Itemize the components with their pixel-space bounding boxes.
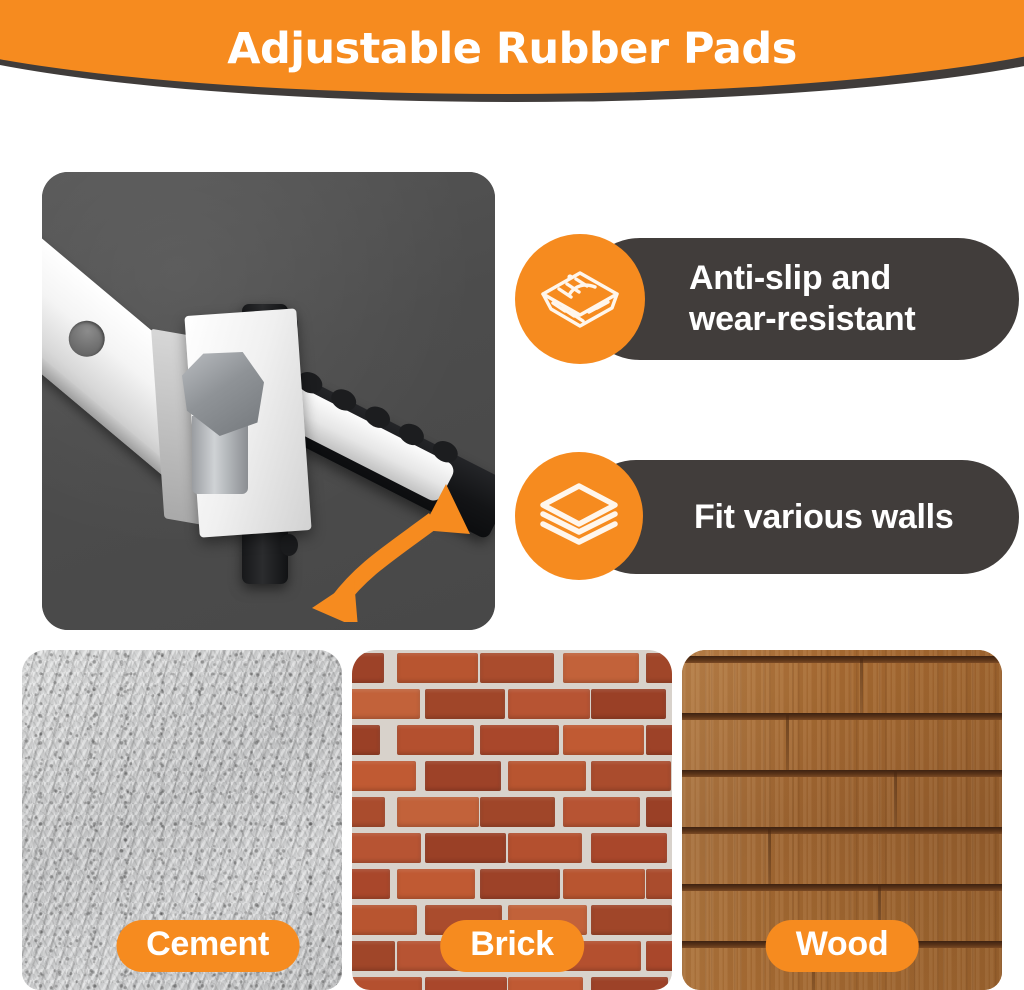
brick xyxy=(480,797,555,827)
brick xyxy=(646,797,672,827)
plank-gap xyxy=(682,656,1002,663)
brick xyxy=(425,761,501,791)
brick-row xyxy=(352,830,672,866)
material-swatch-brick: Brick xyxy=(352,650,672,990)
material-label-brick: Brick xyxy=(440,920,584,972)
brick xyxy=(352,941,395,971)
material-swatches: Cement Brick Wood xyxy=(22,650,1002,990)
brick-row xyxy=(352,650,672,686)
material-label-wood: Wood xyxy=(766,920,919,972)
plank-seam xyxy=(894,770,897,827)
feature-anti-slip: Anti-slip and wear-resistant xyxy=(515,234,1015,364)
brick-row xyxy=(352,974,672,990)
material-swatch-cement: Cement xyxy=(22,650,342,990)
brick xyxy=(425,833,506,863)
brick xyxy=(425,689,505,719)
adjust-arrow-icon xyxy=(310,462,480,622)
material-swatch-wood: Wood xyxy=(682,650,1002,990)
page-title: Adjustable Rubber Pads xyxy=(0,24,1024,74)
brick xyxy=(646,941,672,971)
bracket-hole xyxy=(42,255,48,309)
plank-seam xyxy=(860,656,863,713)
brick xyxy=(352,761,416,791)
brick-row xyxy=(352,722,672,758)
feature-fit-various-walls: Fit various walls xyxy=(515,452,1015,582)
brick xyxy=(352,977,422,990)
plank-gap xyxy=(682,827,1002,834)
brick xyxy=(563,653,639,683)
brick-row xyxy=(352,794,672,830)
plank-seam xyxy=(786,713,789,770)
brick xyxy=(352,653,384,683)
brick xyxy=(480,725,559,755)
brick-row xyxy=(352,686,672,722)
brick xyxy=(508,833,582,863)
plank-seam xyxy=(768,827,771,884)
feature-pill: Anti-slip and wear-resistant xyxy=(579,238,1019,360)
brick xyxy=(646,653,672,683)
header-banner: Adjustable Rubber Pads xyxy=(0,0,1024,120)
brick xyxy=(508,761,586,791)
brick xyxy=(480,653,554,683)
bracket-hole xyxy=(61,313,112,364)
brick xyxy=(591,761,671,791)
brick xyxy=(397,869,475,899)
brick xyxy=(397,653,478,683)
plank-gap xyxy=(682,884,1002,891)
product-infographic: Adjustable Rubber Pads xyxy=(0,0,1024,990)
brick xyxy=(352,797,385,827)
brick xyxy=(352,833,421,863)
brick xyxy=(591,689,666,719)
feature-label: Anti-slip and wear-resistant xyxy=(689,258,915,340)
pad-ridge xyxy=(280,534,298,556)
product-image-panel xyxy=(42,172,495,630)
brick-row xyxy=(352,866,672,902)
brick-row xyxy=(352,758,672,794)
brick xyxy=(397,725,474,755)
feature-pill: Fit various walls xyxy=(579,460,1019,574)
brick xyxy=(352,725,380,755)
brick xyxy=(591,977,668,990)
brick xyxy=(508,977,583,990)
brick xyxy=(591,905,672,935)
feature-label: Fit various walls xyxy=(694,497,953,538)
brick xyxy=(397,797,479,827)
plank-gap xyxy=(682,713,1002,720)
brick xyxy=(591,833,667,863)
textured-surface-icon xyxy=(515,234,645,364)
brick xyxy=(352,905,417,935)
brick xyxy=(646,869,672,899)
material-label-cement: Cement xyxy=(116,920,299,972)
brick xyxy=(563,869,645,899)
plank-gap xyxy=(682,770,1002,777)
brick xyxy=(352,869,390,899)
brick xyxy=(425,977,507,990)
stacked-layers-icon xyxy=(515,452,643,580)
brick xyxy=(352,689,420,719)
brick xyxy=(480,869,560,899)
brick xyxy=(563,797,640,827)
brick xyxy=(646,725,672,755)
brick xyxy=(508,689,590,719)
brick xyxy=(563,725,644,755)
